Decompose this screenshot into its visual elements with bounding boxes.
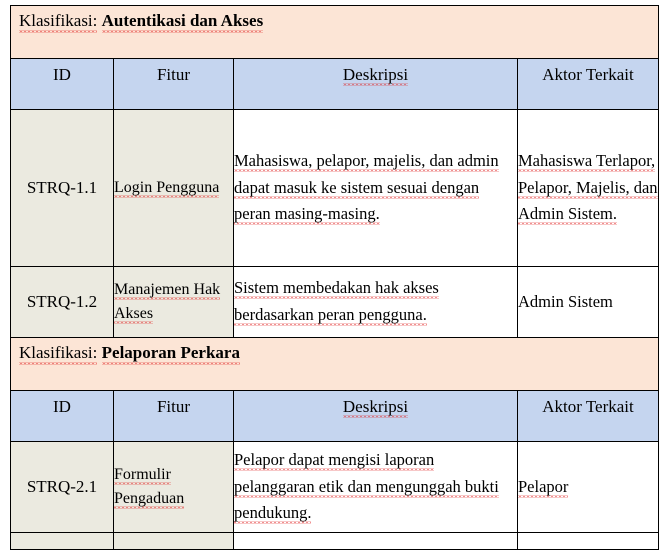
cell-aktor xyxy=(518,533,659,550)
table-row: STRQ-2.1 Formulir Pengaduan Pelapor dapa… xyxy=(11,442,659,533)
classification-text-1: Klasifikasi: Autentikasi dan Akses xyxy=(19,10,658,31)
cell-fitur: Login Pengguna xyxy=(114,110,234,267)
cell-deskripsi: Pelapor dapat mengisi laporan pelanggara… xyxy=(234,442,518,533)
classification-text-2: Klasifikasi: Pelaporan Perkara xyxy=(19,342,658,363)
cell-deskripsi: Sistem membedakan hak akses berdasarkan … xyxy=(234,267,518,338)
cell-fitur: Formulir Pengaduan xyxy=(114,442,234,533)
column-header-row-1: ID Fitur Deskripsi Aktor Terkait xyxy=(11,59,659,110)
column-header-deskripsi-label-1: Deskripsi xyxy=(343,65,408,86)
column-header-aktor-1: Aktor Terkait xyxy=(518,59,659,110)
classification-label-text-1: Klasifikasi: xyxy=(19,11,97,33)
classification-label-2: Klasifikasi: xyxy=(19,342,97,363)
cell-id-text: STRQ-1.2 xyxy=(27,292,97,311)
column-header-id-label-2: ID xyxy=(53,397,71,417)
classification-value-text-2: Pelaporan Perkara xyxy=(102,343,240,365)
cell-aktor: Pelapor xyxy=(518,442,659,533)
column-header-deskripsi-1: Deskripsi xyxy=(234,59,518,110)
cell-id-text: STRQ-2.1 xyxy=(27,477,97,496)
column-header-aktor-label-2: Aktor Terkait xyxy=(542,397,634,417)
cell-id xyxy=(11,533,114,550)
classification-banner-row-1: Klasifikasi: Autentikasi dan Akses xyxy=(11,6,659,59)
cell-deskripsi-text: Mahasiswa, pelapor, majelis, dan admin d… xyxy=(234,151,499,225)
classification-label-1: Klasifikasi: xyxy=(19,10,97,31)
column-header-aktor-label-1: Aktor Terkait xyxy=(542,65,634,85)
document-canvas: Klasifikasi: Autentikasi dan Akses ID Fi… xyxy=(0,0,671,529)
requirements-table: Klasifikasi: Autentikasi dan Akses ID Fi… xyxy=(10,5,659,550)
column-header-aktor-2: Aktor Terkait xyxy=(518,391,659,442)
column-header-row-2: ID Fitur Deskripsi Aktor Terkait xyxy=(11,391,659,442)
cell-fitur: Manajemen Hak Akses xyxy=(114,267,234,338)
cell-deskripsi-text: Pelapor dapat mengisi laporan pelanggara… xyxy=(234,450,499,524)
column-header-id-2: ID xyxy=(11,391,114,442)
column-header-fitur-2: Fitur xyxy=(114,391,234,442)
classification-label-text-2: Klasifikasi: xyxy=(19,343,97,365)
table-row: STRQ-1.2 Manajemen Hak Akses Sistem memb… xyxy=(11,267,659,338)
cell-aktor-text: Mahasiswa Terlapor, Pelapor, Majelis, da… xyxy=(518,151,658,225)
cell-id: STRQ-2.1 xyxy=(11,442,114,533)
column-header-fitur-label-1: Fitur xyxy=(157,65,190,85)
cell-deskripsi xyxy=(234,533,518,550)
table-row-clipped xyxy=(11,533,659,550)
classification-value-text-1: Autentikasi dan Akses xyxy=(102,11,264,33)
cell-fitur-text: Formulir Pengaduan xyxy=(114,466,184,509)
cell-aktor: Mahasiswa Terlapor, Pelapor, Majelis, da… xyxy=(518,110,659,267)
column-header-deskripsi-label-2: Deskripsi xyxy=(343,397,408,418)
cell-fitur-text: Manajemen Hak Akses xyxy=(114,281,220,324)
cell-id-text: STRQ-1.1 xyxy=(27,178,97,197)
table-row: STRQ-1.1 Login Pengguna Mahasiswa, pelap… xyxy=(11,110,659,267)
cell-aktor-text: Admin Sistem xyxy=(518,292,613,311)
column-header-id-1: ID xyxy=(11,59,114,110)
classification-banner-cell-2: Klasifikasi: Pelaporan Perkara xyxy=(11,338,659,391)
column-header-fitur-1: Fitur xyxy=(114,59,234,110)
cell-fitur-text: Login Pengguna xyxy=(114,179,219,198)
classification-value-1: Autentikasi dan Akses xyxy=(102,10,264,31)
classification-banner-row-2: Klasifikasi: Pelaporan Perkara xyxy=(11,338,659,391)
cell-aktor-text: Pelapor xyxy=(518,477,568,498)
column-header-id-label-1: ID xyxy=(53,65,71,85)
cell-deskripsi-text: Sistem membedakan hak akses berdasarkan … xyxy=(234,278,439,326)
column-header-fitur-label-2: Fitur xyxy=(157,397,190,417)
cell-deskripsi: Mahasiswa, pelapor, majelis, dan admin d… xyxy=(234,110,518,267)
classification-value-2: Pelaporan Perkara xyxy=(102,342,240,363)
cell-aktor: Admin Sistem xyxy=(518,267,659,338)
column-header-deskripsi-2: Deskripsi xyxy=(234,391,518,442)
classification-banner-cell-1: Klasifikasi: Autentikasi dan Akses xyxy=(11,6,659,59)
cell-id: STRQ-1.2 xyxy=(11,267,114,338)
cell-fitur xyxy=(114,533,234,550)
cell-id: STRQ-1.1 xyxy=(11,110,114,267)
